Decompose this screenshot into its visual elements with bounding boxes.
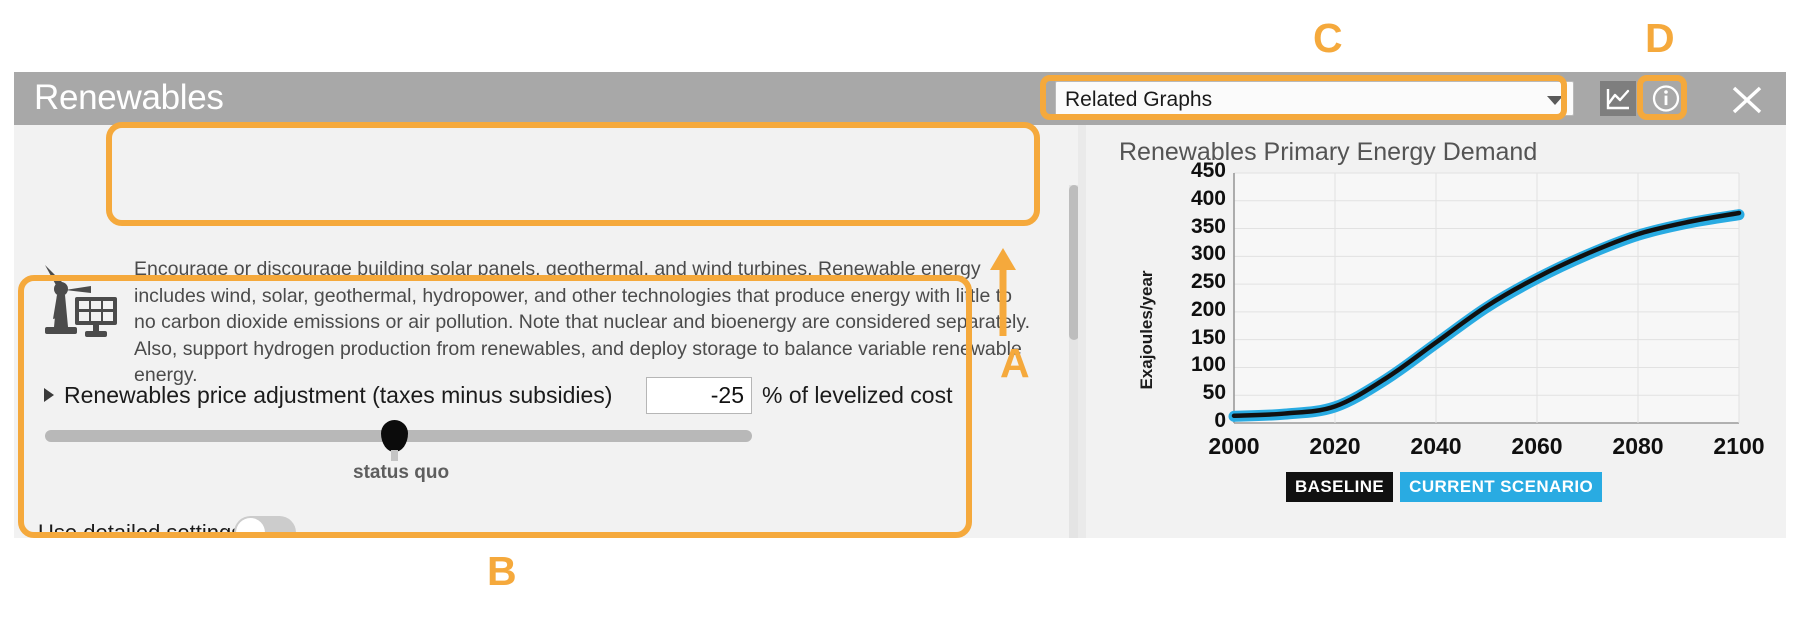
close-icon <box>1728 82 1766 118</box>
renewables-price-adjustment-value: -25 <box>711 382 744 409</box>
chart-x-tick-label: 2040 <box>1381 433 1491 460</box>
chart-y-tick-label: 0 <box>1154 409 1226 433</box>
use-detailed-settings-row: Use detailed settings <box>14 518 1069 538</box>
chart-x-tick-label: 2080 <box>1583 433 1693 460</box>
chart-y-tick-label: 100 <box>1154 353 1226 377</box>
chart-y-tick-label: 300 <box>1154 242 1226 266</box>
annotation-letter-b: B <box>487 548 517 595</box>
chart-plot-background <box>1234 173 1739 423</box>
renewables-price-adjustment-units: % of levelized cost <box>762 382 952 409</box>
chevron-down-icon <box>1547 96 1563 105</box>
info-circle-icon <box>1648 81 1684 116</box>
chart-y-tick-label: 350 <box>1154 215 1226 239</box>
renewables-price-adjustment-slider-thumb[interactable] <box>381 420 408 452</box>
related-graphs-select-value: Related Graphs <box>1065 88 1212 112</box>
chart-x-tick-label: 2020 <box>1280 433 1390 460</box>
use-detailed-settings-label: Use detailed settings <box>38 520 242 538</box>
panel-divider <box>1078 125 1086 538</box>
panel-scrollbar-thumb[interactable] <box>1069 185 1078 340</box>
dialog-titlebar: Renewables Related Graphs <box>14 72 1786 125</box>
related-graphs-select[interactable]: Related Graphs <box>1055 81 1574 116</box>
graph-view-button[interactable] <box>1600 81 1636 116</box>
close-button[interactable] <box>1728 82 1766 118</box>
chart-x-tick-label: 2000 <box>1179 433 1289 460</box>
page-title: Renewables <box>34 78 224 118</box>
renewables-price-adjustment-control: Renewables price adjustment (taxes minus… <box>14 382 1069 502</box>
policy-description: Encourage or discourage building solar p… <box>134 256 1036 389</box>
chart-legend: BASELINECURRENT SCENARIO <box>1286 472 1602 502</box>
screenshot-root: Renewables Related Graphs <box>0 0 1800 631</box>
chart-x-tick-label: 2060 <box>1482 433 1592 460</box>
chart-y-tick-label: 250 <box>1154 270 1226 294</box>
line-chart-icon <box>1600 81 1636 116</box>
status-quo-label: status quo <box>353 462 449 484</box>
legend-chip[interactable]: CURRENT SCENARIO <box>1400 472 1602 502</box>
annotation-letter-c: C <box>1313 15 1343 62</box>
chart-y-tick-label: 50 <box>1154 381 1226 405</box>
annotation-letter-d: D <box>1645 15 1675 62</box>
info-button[interactable] <box>1648 81 1684 116</box>
renewables-price-adjustment-label: Renewables price adjustment (taxes minus… <box>64 382 612 409</box>
renewables-primary-energy-demand-chart: Renewables Primary Energy Demand Exajoul… <box>1086 125 1786 538</box>
chart-y-tick-label: 400 <box>1154 187 1226 211</box>
policy-settings-panel: Encourage or discourage building solar p… <box>14 125 1078 538</box>
legend-chip[interactable]: BASELINE <box>1286 472 1393 502</box>
renewables-price-adjustment-input[interactable]: -25 <box>646 377 752 414</box>
policy-dialog-window: Renewables Related Graphs <box>14 72 1786 538</box>
toggle-knob <box>236 518 265 538</box>
use-detailed-settings-toggle[interactable] <box>234 516 296 538</box>
chart-x-tick-label: 2100 <box>1684 433 1786 460</box>
chart-y-tick-label: 200 <box>1154 298 1226 322</box>
status-quo-tick-mark <box>391 450 398 461</box>
wind-turbine-solar-panel-icon <box>35 257 119 339</box>
chart-y-tick-label: 150 <box>1154 326 1226 350</box>
chart-y-tick-label: 450 <box>1154 159 1226 183</box>
related-graph-panel: Renewables Primary Energy Demand Exajoul… <box>1086 125 1786 538</box>
disclosure-triangle-icon[interactable] <box>44 388 54 402</box>
